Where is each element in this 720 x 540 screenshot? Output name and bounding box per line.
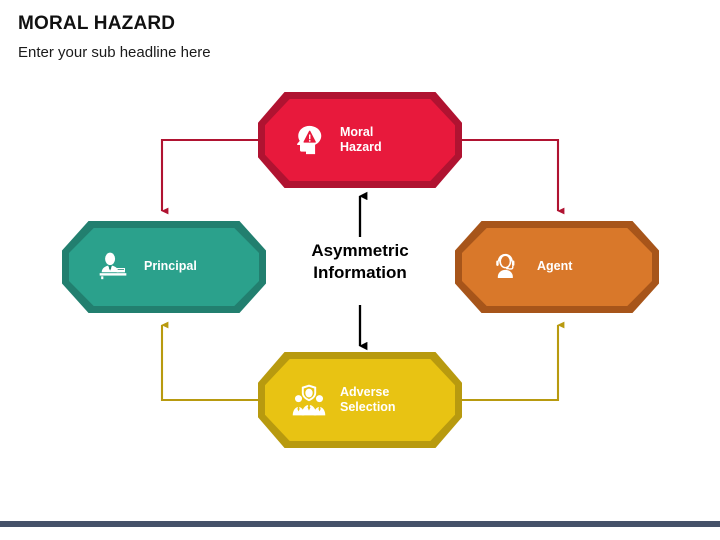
node-label: Moral Hazard bbox=[340, 125, 382, 156]
node-label: Principal bbox=[144, 259, 197, 274]
footer-bar bbox=[0, 521, 720, 527]
node-label: Adverse Selection bbox=[340, 385, 396, 416]
node-label: Agent bbox=[537, 259, 572, 274]
node-moral-hazard[interactable]: Moral Hazard bbox=[258, 92, 462, 188]
slide-canvas: MORAL HAZARD Enter your sub headline her… bbox=[0, 0, 720, 540]
connector-adverse-selection-to-principal bbox=[162, 325, 262, 400]
moral-hazard-diagram: Moral Hazard Prin bbox=[0, 0, 720, 540]
headset-agent-icon bbox=[485, 246, 527, 288]
connector-moral-hazard-to-agent bbox=[458, 140, 558, 211]
node-content: Adverse Selection bbox=[258, 379, 462, 421]
head-warning-icon bbox=[288, 119, 330, 161]
node-content: Agent bbox=[455, 246, 659, 288]
person-at-desk-icon bbox=[92, 246, 134, 288]
connector-moral-hazard-to-principal bbox=[162, 140, 262, 211]
connector-adverse-selection-to-agent bbox=[458, 325, 558, 400]
center-label-asymmetric-information: Asymmetric Information bbox=[281, 240, 439, 284]
node-content: Principal bbox=[62, 246, 266, 288]
people-group-shield-icon bbox=[288, 379, 330, 421]
node-content: Moral Hazard bbox=[258, 119, 462, 161]
node-agent[interactable]: Agent bbox=[455, 221, 659, 313]
node-adverse-selection[interactable]: Adverse Selection bbox=[258, 352, 462, 448]
node-principal[interactable]: Principal bbox=[62, 221, 266, 313]
